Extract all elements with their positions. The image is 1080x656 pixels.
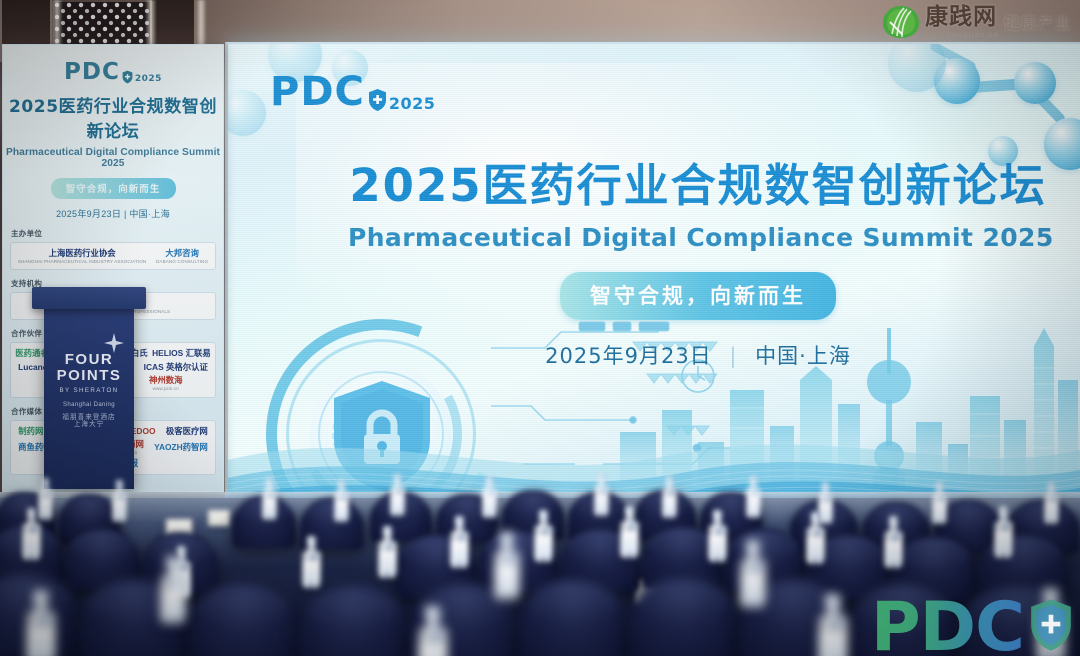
podium-brand-cn2: 上海大宁 (74, 421, 104, 428)
site-watermark-top: 康践网 www.kangjian.cn 健康产业 (882, 3, 1072, 41)
rollup-title: 2025医药行业合规数智创新论坛 (3, 92, 223, 142)
pdc-logo-wordmark: PDC 2025 (270, 72, 435, 112)
green-leaf-icon (882, 4, 920, 40)
water-bottle (390, 474, 405, 516)
sponsor-logo: 神州数海 www.pcsi.cn (149, 375, 183, 391)
event-date-location: 2025年9月23日 | 中国·上海 (348, 340, 1048, 370)
water-bottle (818, 594, 848, 656)
rollup-subtitle: Pharmaceutical Digital Compliance Summit… (3, 147, 223, 169)
podium-brand-line2: POINTS (57, 368, 122, 385)
water-bottle (806, 512, 825, 564)
rollup-pdc-logo: PDC 2025 (3, 61, 223, 84)
rollup-pdc-year: 2025 (135, 75, 162, 84)
event-location: 中国·上海 (755, 344, 851, 368)
sponsor-section: 主办单位 上海医药行业协会 SHANGHAI PHARMACEUTICAL IN… (3, 228, 223, 270)
pdc-logo-year: 2025 (389, 96, 436, 112)
event-date: 2025年9月23日 (545, 344, 712, 368)
shield-cross-icon (1028, 597, 1074, 653)
podium-top (32, 287, 146, 309)
pdc-watermark-text: PDC (871, 594, 1024, 656)
water-bottle (26, 590, 56, 656)
water-bottle (482, 476, 497, 518)
pdc-logo: PDC 2025 (270, 72, 435, 112)
led-stage-screen: PDC 2025 (225, 42, 1080, 522)
date-location-separator: | (729, 344, 737, 368)
sponsor-logo-row: 上海医药行业协会 SHANGHAI PHARMACEUTICAL INDUSTR… (10, 242, 216, 270)
page-title: 2025医药行业合规数智创新论坛 (348, 162, 1048, 211)
sponsor-logo: YAOZH药智网 (154, 442, 208, 453)
watermark-name-block: 康践网 www.kangjian.cn (925, 6, 999, 39)
sponsor-logo: 制药网 (18, 426, 43, 437)
rollup-date: 2025年9月23日 | 中国·上海 (3, 207, 223, 220)
water-bottle (262, 478, 277, 520)
water-bottle (594, 474, 609, 516)
podium-brand-line4: Shanghai Daning (63, 402, 115, 409)
rollup-pdc-text: PDC (64, 61, 120, 84)
water-bottle (740, 540, 766, 608)
sponsor-logo: 上海医药行业协会 SHANGHAI PHARMACEUTICAL INDUSTR… (18, 248, 147, 264)
watermark-site-url: www.kangjian.cn (925, 31, 999, 39)
table-nameplate (208, 510, 230, 526)
shield-cross-icon (368, 88, 387, 112)
water-bottle (494, 532, 520, 600)
water-bottle (662, 476, 677, 518)
water-bottle (932, 482, 947, 524)
sponsor-section-label: 主办单位 (11, 228, 223, 239)
water-bottle (112, 480, 127, 522)
conference-photo: PDC 2025 (0, 0, 1080, 656)
water-bottle (160, 556, 186, 624)
sponsor-logo: 大邦咨询 DABANG CONSULTING (156, 248, 208, 264)
sponsor-logo: ICAS 英格尔认证 (144, 362, 208, 373)
pdc-logo-text: PDC (270, 72, 365, 112)
water-bottle (418, 606, 448, 656)
water-bottle (302, 536, 321, 588)
pdc-watermark-bottom: PDC (871, 594, 1074, 656)
water-bottle (708, 510, 727, 562)
four-points-star-icon (104, 333, 124, 353)
water-bottle (746, 476, 761, 518)
water-bottle (22, 508, 41, 560)
screen-headline: 2025医药行业合规数智创新论坛 Pharmaceutical Digital … (348, 162, 1048, 370)
water-bottle (334, 480, 349, 522)
podium-brand-line3: BY SHERATON (59, 388, 118, 395)
speaker-podium: FOUR POINTS BY SHERATON Shanghai Daning … (44, 303, 134, 489)
sponsor-logo: HELIOS 汇联易 (152, 348, 211, 359)
slogan-badge: 智守合规，向新而生 (560, 272, 836, 320)
water-bottle (1044, 482, 1059, 524)
water-bottle (534, 510, 553, 562)
rollup-slogan: 智守合规，向新而生 (51, 178, 176, 199)
water-bottle (994, 506, 1013, 558)
shield-cross-icon (122, 70, 133, 84)
sponsor-logo: 极客医疗网 (166, 426, 208, 437)
water-bottle (450, 516, 469, 568)
water-bottle (378, 526, 397, 578)
watermark-slogan: 健康产业 (1004, 12, 1072, 33)
water-bottle (884, 516, 903, 568)
water-bottle (620, 506, 639, 558)
page-subtitle: Pharmaceutical Digital Compliance Summit… (348, 223, 1048, 252)
watermark-site-name: 康践网 (925, 6, 999, 29)
podium-brand-line1: FOUR (65, 352, 114, 369)
